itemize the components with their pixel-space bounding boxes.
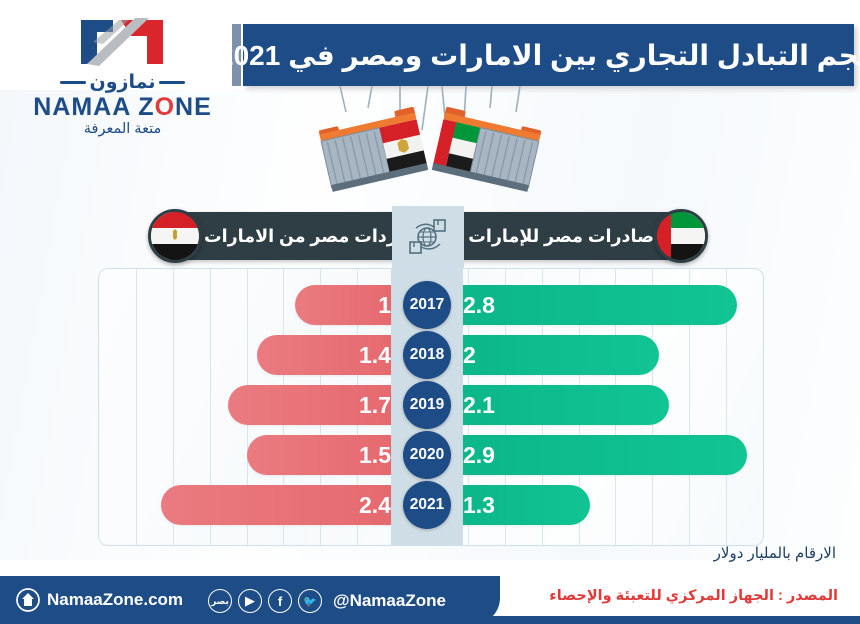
export-bar: 2.9	[463, 435, 747, 475]
legend-header: صادرات مصر للإمارات واردات مصر من الامار…	[148, 212, 708, 260]
chart-row: 1.72.12019	[99, 385, 763, 425]
year-badge: 2017	[403, 281, 451, 329]
import-value-label: 1.7	[359, 392, 391, 419]
egypt-flag-icon	[148, 209, 202, 263]
shipping-containers-with-flags-icon	[296, 86, 564, 206]
import-value-label: 2.4	[359, 492, 391, 519]
facebook-icon[interactable]: f	[268, 589, 292, 613]
infographic-canvas: نمازون NAMAA ZONE متعة المعرفة حجم التبا…	[0, 0, 860, 624]
website-label: NamaaZone.com	[47, 590, 183, 610]
year-badge: 2019	[403, 381, 451, 429]
chart-row: 1.422018	[99, 335, 763, 375]
chart-rows: 12.820171.4220181.72.120191.52.920202.41…	[99, 269, 763, 545]
brand-name-ar: نمازون	[20, 73, 225, 92]
export-value-label: 2	[463, 342, 476, 369]
source-credit: المصدر : الجهاز المركزي للتعبئة والإحصاء	[549, 588, 838, 604]
title-banner: حجم التبادل التجاري بين الامارات ومصر في…	[232, 24, 854, 86]
import-bar: 2.4	[161, 485, 391, 525]
trade-volume-bar-chart: 12.820171.4220181.72.120191.52.920202.41…	[98, 268, 764, 546]
brand-name-en: NAMAA ZONE	[20, 94, 225, 120]
chart-row: 1.52.92020	[99, 435, 763, 475]
export-value-label: 1.3	[463, 492, 495, 519]
namaa-zone-logo-icon	[63, 14, 183, 72]
import-bar: 1.4	[257, 335, 391, 375]
import-bar: 1.7	[228, 385, 391, 425]
export-value-label: 2.1	[463, 392, 495, 419]
twitter-icon[interactable]: 🐦	[298, 589, 322, 613]
import-bar: 1	[295, 285, 391, 325]
export-value-label: 2.9	[463, 442, 495, 469]
brand-logo[interactable]: نمازون NAMAA ZONE متعة المعرفة	[20, 14, 225, 126]
import-value-label: 1.4	[359, 342, 391, 369]
global-trade-globe-icon	[392, 206, 464, 268]
title-bar: حجم التبادل التجاري بين الامارات ومصر في…	[243, 24, 854, 86]
social-links[interactable]: بصر▶f🐦@NamaaZone	[208, 588, 446, 614]
website-link[interactable]: NamaaZone.com	[16, 586, 183, 614]
units-note: الارقام بالمليار دولار	[714, 544, 836, 562]
export-bar: 2	[463, 335, 659, 375]
basar-arabic-icon[interactable]: بصر	[208, 589, 232, 613]
social-handle: @NamaaZone	[333, 591, 446, 611]
page-title: حجم التبادل التجاري بين الامارات ومصر في…	[218, 39, 860, 72]
year-badge: 2020	[403, 431, 451, 479]
year-badge: 2018	[403, 331, 451, 379]
legend-imports-label: واردات مصر من الامارات	[204, 212, 414, 260]
import-value-label: 1	[378, 292, 391, 319]
chart-row: 2.41.32021	[99, 485, 763, 525]
brand-tagline: متعة المعرفة	[20, 122, 225, 137]
export-bar: 1.3	[463, 485, 590, 525]
chart-row: 12.82017	[99, 285, 763, 325]
legend-exports-label: صادرات مصر للإمارات	[468, 212, 654, 260]
import-value-label: 1.5	[359, 442, 391, 469]
uae-flag-icon	[654, 209, 708, 263]
youtube-icon[interactable]: ▶	[238, 589, 262, 613]
export-bar: 2.1	[463, 385, 669, 425]
export-bar: 2.8	[463, 285, 737, 325]
import-bar: 1.5	[247, 435, 391, 475]
export-value-label: 2.8	[463, 292, 495, 319]
year-badge: 2021	[403, 481, 451, 529]
home-icon	[16, 588, 40, 612]
